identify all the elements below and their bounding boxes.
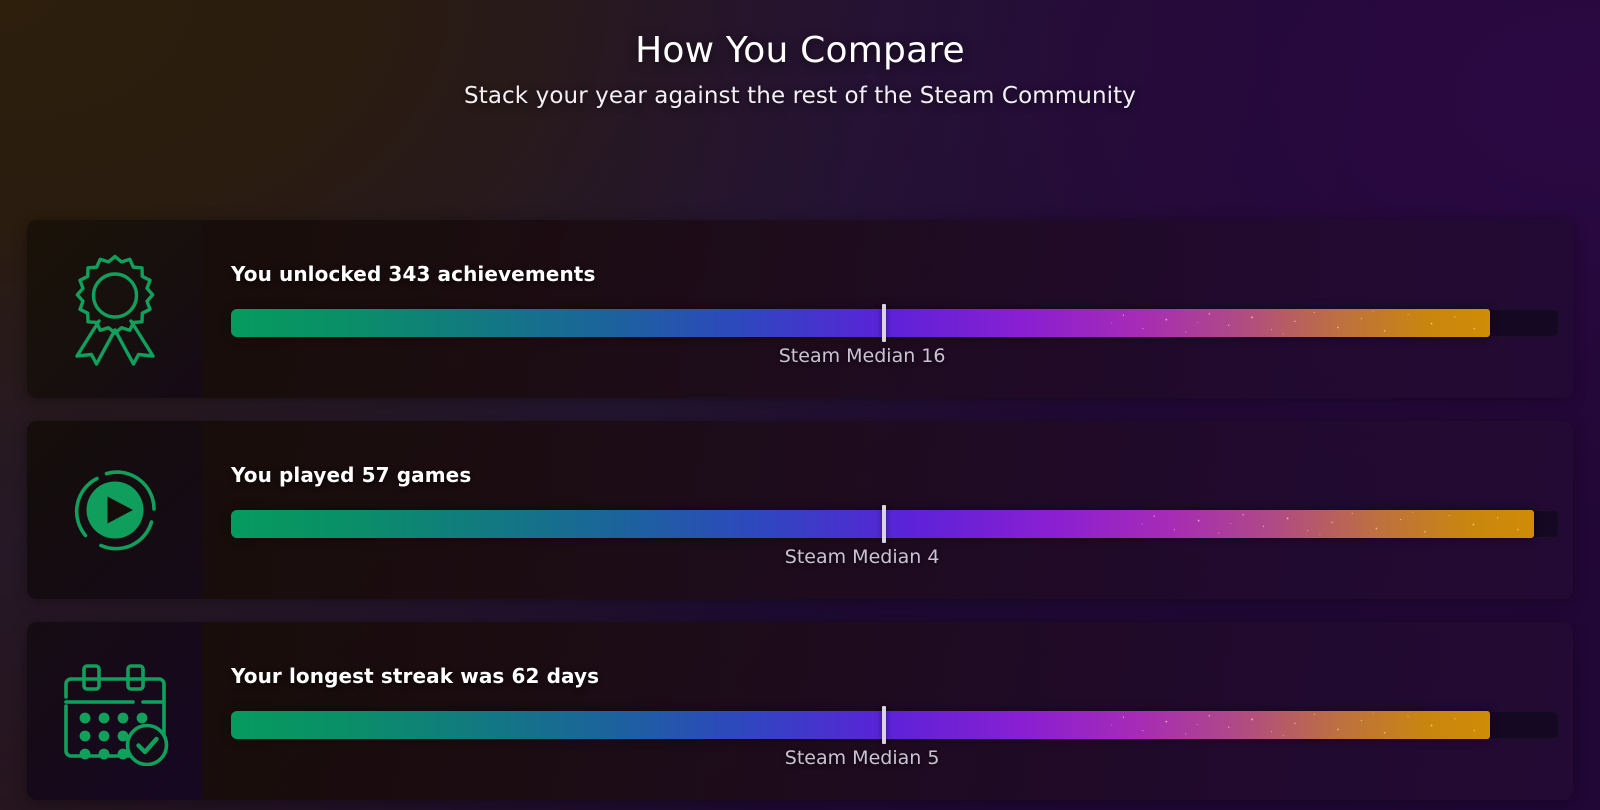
bar-track (231, 510, 1559, 538)
bar-track (231, 309, 1559, 337)
card-icon-panel (27, 421, 202, 599)
card-body: You unlocked 343 achievements Steam Medi… (202, 220, 1573, 398)
bar-sparkle-overlay (1100, 309, 1490, 337)
bar-fill (231, 309, 1490, 337)
page-subtitle: Stack your year against the rest of the … (0, 83, 1600, 109)
median-label: Steam Median 5 (785, 747, 940, 769)
median-marker (882, 706, 886, 744)
stat-label: Your longest streak was 62 days (231, 664, 1519, 688)
comparison-bar[interactable]: Steam Median 4 (231, 510, 1519, 540)
bar-track (231, 711, 1559, 739)
comparison-bar[interactable]: Steam Median 16 (231, 309, 1519, 339)
comparison-card-achievements[interactable]: You unlocked 343 achievements Steam Medi… (27, 220, 1573, 398)
card-body: Your longest streak was 62 days Steam Me… (202, 622, 1573, 800)
comparison-card-longest-streak[interactable]: Your longest streak was 62 days Steam Me… (27, 622, 1573, 800)
play-circle-icon (59, 454, 171, 566)
median-marker (882, 304, 886, 342)
comparison-card-list: You unlocked 343 achievements Steam Medi… (27, 220, 1573, 810)
page-title: How You Compare (0, 30, 1600, 71)
card-icon-panel (27, 220, 202, 398)
calendar-check-icon (59, 656, 171, 766)
bar-sparkle-overlay (1100, 711, 1490, 739)
page-header: How You Compare Stack your year against … (0, 0, 1600, 109)
stat-label: You unlocked 343 achievements (231, 262, 1519, 286)
stat-label: You played 57 games (231, 463, 1519, 487)
bar-sparkle-overlay (1130, 510, 1534, 538)
comparison-bar[interactable]: Steam Median 5 (231, 711, 1519, 741)
card-body: You played 57 games Steam Median 4 (202, 421, 1573, 599)
award-ribbon-icon (63, 251, 167, 367)
card-icon-panel (27, 622, 202, 800)
median-marker (882, 505, 886, 543)
comparison-card-games-played[interactable]: You played 57 games Steam Median 4 (27, 421, 1573, 599)
bar-fill (231, 711, 1490, 739)
median-label: Steam Median 16 (779, 345, 946, 367)
median-label: Steam Median 4 (785, 546, 940, 568)
